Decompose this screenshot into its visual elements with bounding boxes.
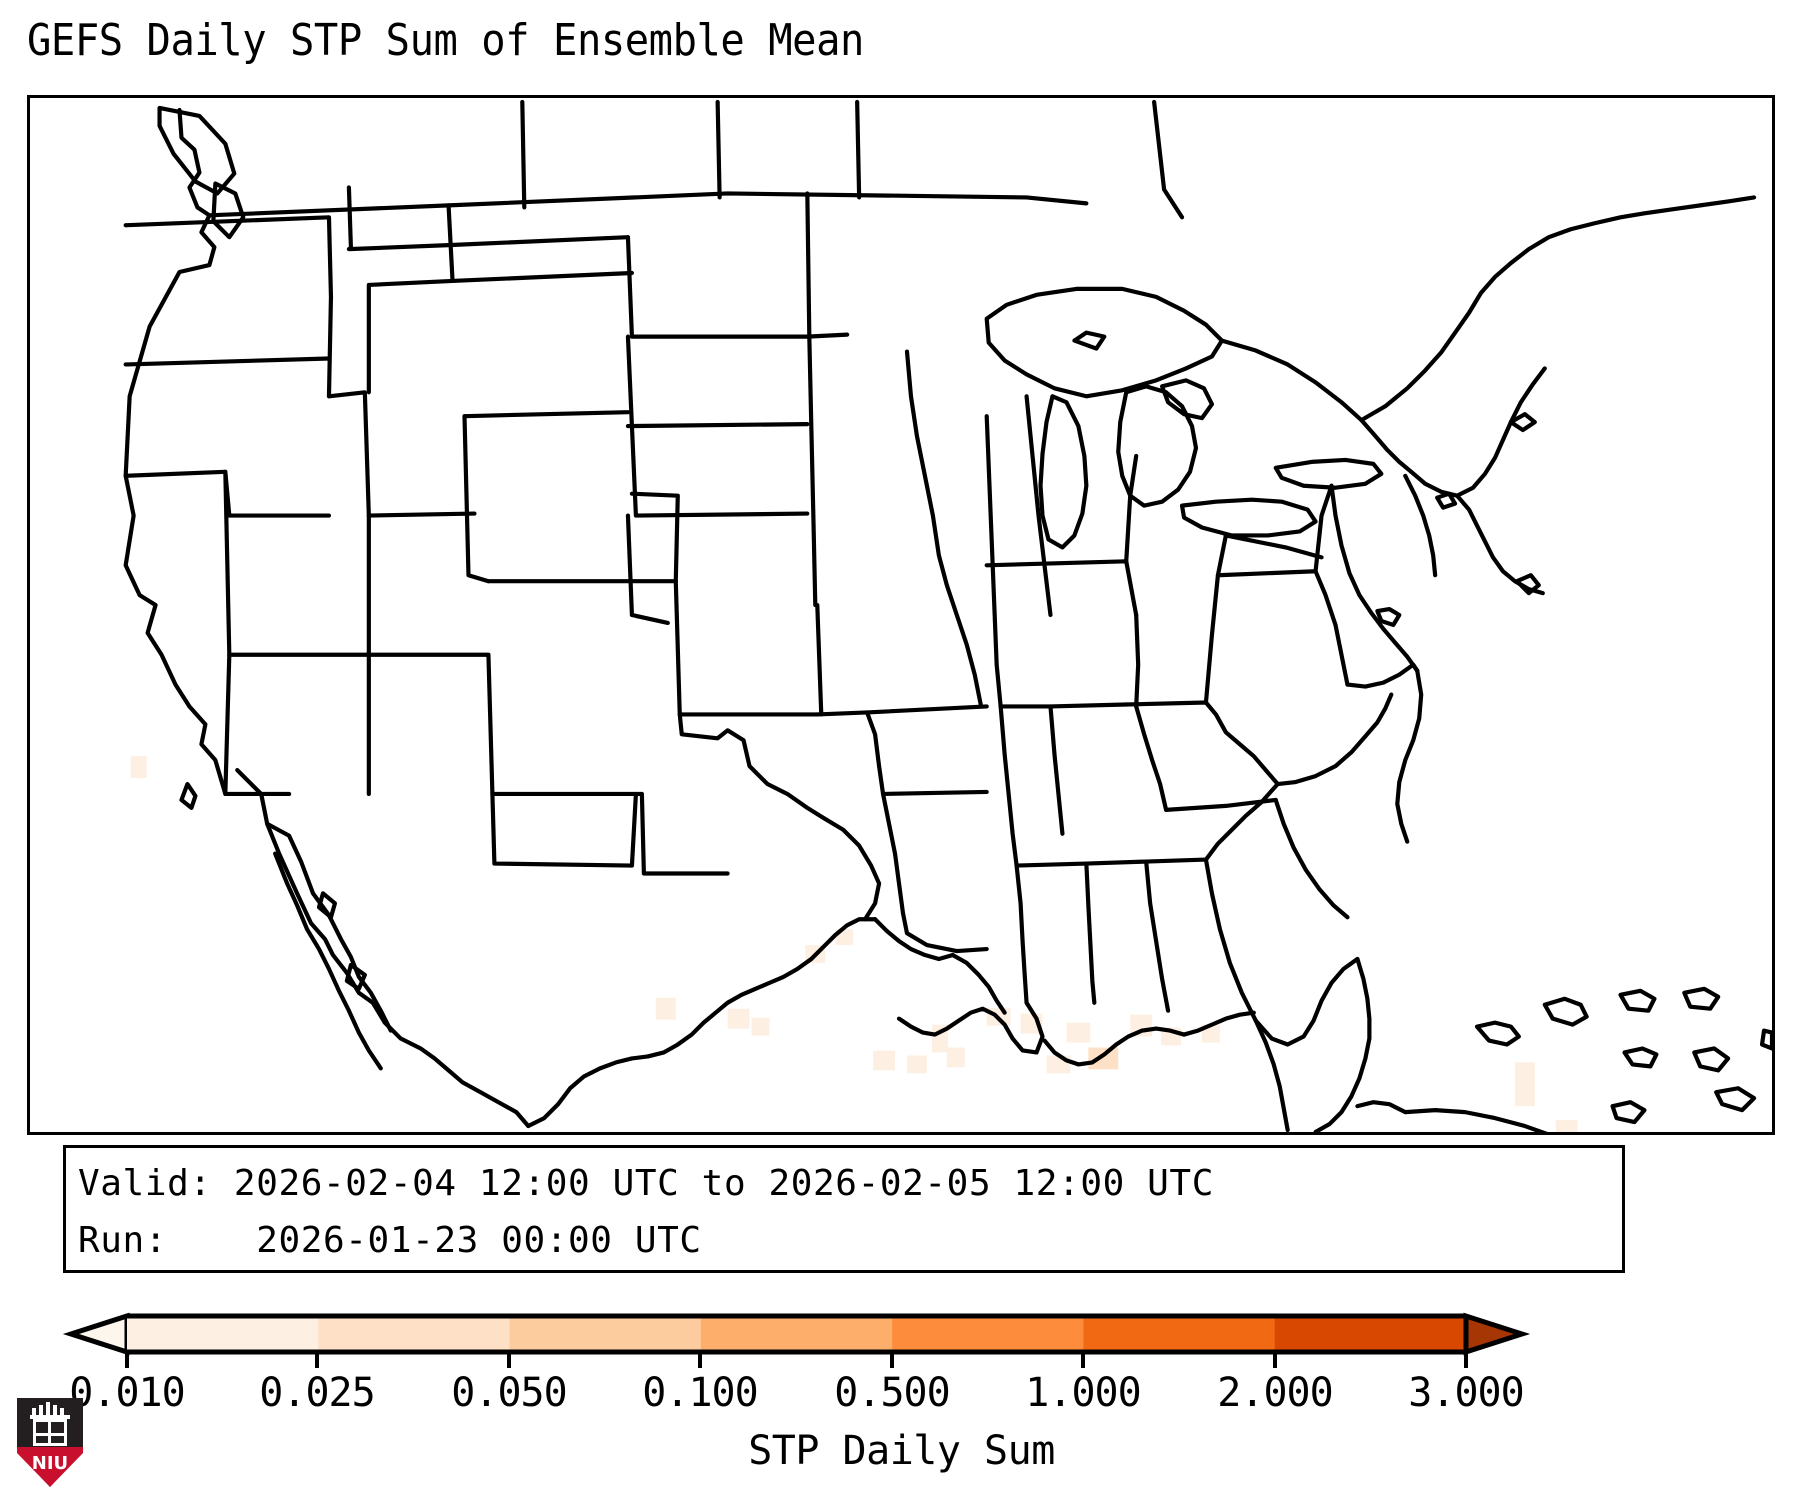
colorbar — [0, 1290, 1803, 1370]
colorbar-tick-label: 0.500 — [834, 1370, 949, 1416]
colorbar-tick-labels: 0.0100.0250.0500.1000.5001.0002.0003.000 — [0, 1370, 1803, 1420]
colorbar-axis-label: STP Daily Sum — [0, 1428, 1803, 1474]
colorbar-band — [1275, 1316, 1467, 1352]
colorbar-band — [127, 1316, 319, 1352]
colorbar-region: 0.0100.0250.0500.1000.5001.0002.0003.000… — [0, 1290, 1803, 1500]
valid-run-info-box: Valid: 2026-02-04 12:00 UTC to 2026-02-0… — [63, 1145, 1625, 1273]
colorbar-band — [701, 1316, 893, 1352]
valid-time-line: Valid: 2026-02-04 12:00 UTC to 2026-02-0… — [78, 1155, 1622, 1212]
map-panel — [27, 95, 1775, 1135]
colorbar-tick-label: 0.100 — [642, 1370, 757, 1416]
colorbar-tick-label: 0.050 — [451, 1370, 566, 1416]
colorbar-bands — [71, 1316, 1522, 1352]
niu-logo-text: NIU — [32, 1453, 68, 1474]
basemap-outlines — [30, 98, 1772, 1132]
colorbar-band — [318, 1316, 510, 1352]
colorbar-tick-label: 0.010 — [69, 1370, 184, 1416]
coastline-paths — [126, 102, 1772, 1132]
colorbar-over-extension — [1466, 1316, 1522, 1352]
figure-canvas: GEFS Daily STP Sum of Ensemble Mean — [0, 0, 1803, 1500]
niu-logo: NIU — [14, 1395, 86, 1490]
colorbar-under-extension — [71, 1316, 127, 1352]
run-time-line: Run: 2026-01-23 00:00 UTC — [78, 1212, 1622, 1269]
colorbar-tick-label: 3.000 — [1408, 1370, 1523, 1416]
colorbar-band — [510, 1316, 702, 1352]
colorbar-band — [1083, 1316, 1275, 1352]
colorbar-tick-label: 0.025 — [259, 1370, 374, 1416]
colorbar-tick-label: 1.000 — [1025, 1370, 1140, 1416]
page-title: GEFS Daily STP Sum of Ensemble Mean — [27, 15, 864, 66]
colorbar-tick-label: 2.000 — [1217, 1370, 1332, 1416]
colorbar-band — [892, 1316, 1084, 1352]
